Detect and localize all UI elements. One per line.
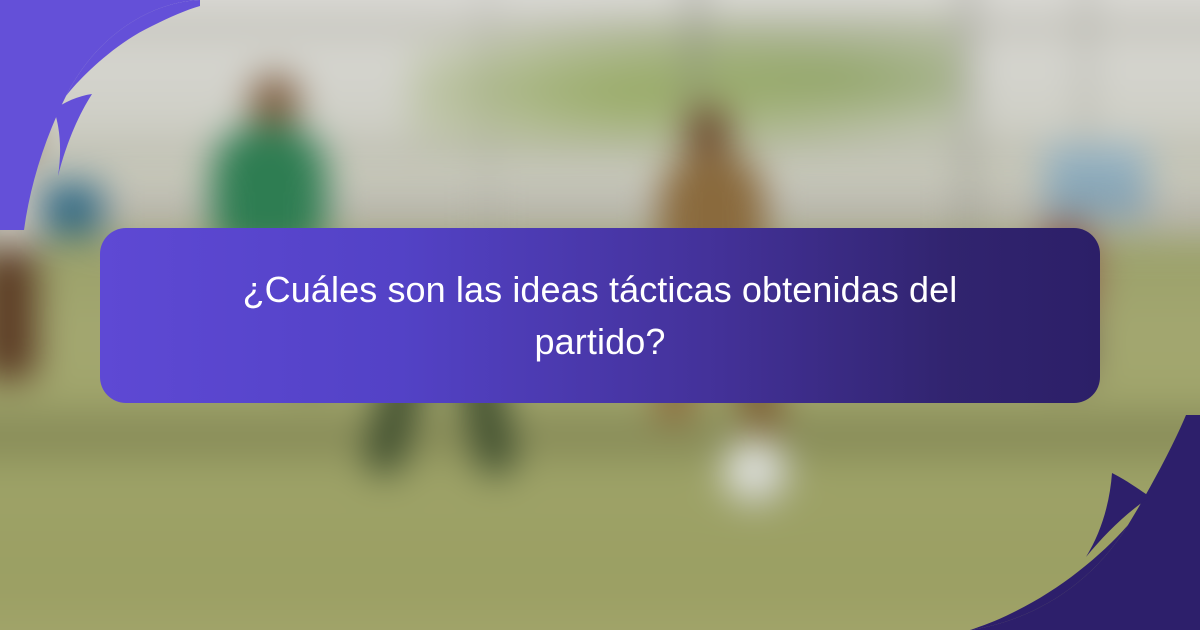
fence-rail-lower [0, 144, 1200, 159]
spectator-left [0, 115, 53, 380]
fence-rail-upper [0, 19, 1200, 34]
player-tan-right-head [685, 106, 732, 159]
fence-pole-4 [481, 0, 492, 257]
spectator-left-torso [0, 159, 42, 257]
player-green-back-head [250, 74, 299, 131]
fence-pole-2 [960, 0, 975, 257]
social-share-card: ¿Cuáles son las ideas tácticas obtenidas… [0, 0, 1200, 630]
blue-seat-right [1045, 144, 1147, 218]
title-banner: ¿Cuáles son las ideas tácticas obtenidas… [100, 228, 1100, 403]
spectator-left-head [0, 115, 32, 164]
spectator-left-legs [0, 248, 36, 379]
soccer-ball [723, 439, 789, 505]
page-title: ¿Cuáles son las ideas tácticas obtenidas… [220, 264, 980, 368]
